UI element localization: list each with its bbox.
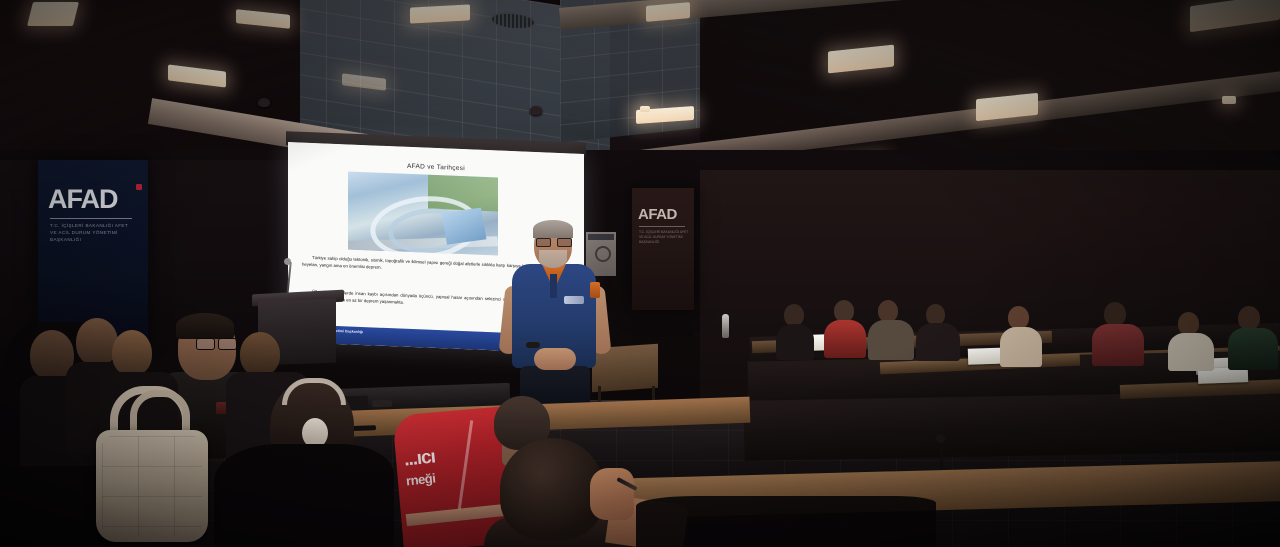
desk-microphone-stem <box>940 440 943 468</box>
foreground-hand <box>590 468 634 520</box>
banner-divider <box>50 218 132 219</box>
audience-torso <box>1228 328 1278 370</box>
audience-head <box>784 304 804 326</box>
ceiling-light-panel <box>410 4 470 23</box>
audience-head <box>926 304 945 325</box>
ceiling-light-panel <box>640 106 650 112</box>
screenshot-scene: AFAD ve Tarihçesi Türkiye sahip olduğu t… <box>0 0 1280 547</box>
presenter-beard <box>539 250 567 268</box>
banner-divider <box>639 226 685 227</box>
ceiling-speaker-icon <box>530 106 542 115</box>
slide-photo-afad-building <box>348 171 498 255</box>
presenter-hair <box>533 220 573 238</box>
audience-head <box>834 300 854 322</box>
vest-text-line-1: ...ıcı <box>403 446 436 471</box>
audience-torso <box>776 324 814 360</box>
audience-torso <box>1168 333 1214 371</box>
audience-head <box>112 330 152 376</box>
ceiling-light-panel <box>27 2 79 26</box>
vest-text-line-2: rneği <box>405 471 436 489</box>
audience-torso-red-vest <box>824 320 866 358</box>
foreground-shadow <box>636 496 936 547</box>
audience-head <box>1104 302 1126 326</box>
presenter <box>498 222 618 402</box>
foreground-silhouette <box>214 444 394 547</box>
presenter-sleeve-trim <box>590 282 600 298</box>
audience-hair <box>176 313 234 339</box>
seating-tier-front <box>744 391 1280 461</box>
afad-logo-accent-icon <box>136 184 142 190</box>
afad-logo-text: AFAD <box>48 184 118 215</box>
presenter-shirt-logo <box>564 296 584 304</box>
audience-torso <box>1000 327 1042 367</box>
audience-head <box>1178 312 1199 335</box>
audience-head <box>1238 306 1260 330</box>
water-bottle <box>722 314 729 338</box>
afad-banner-subtitle: T.C. İÇİŞLERİ BAKANLIĞI AFET VE ACİL DUR… <box>50 222 136 243</box>
photo-glass-facade <box>442 208 487 245</box>
ceiling-dome-camera-icon <box>258 98 270 107</box>
audience-torso <box>916 323 960 361</box>
audience-head <box>240 332 280 376</box>
afad-banner-right: AFAD T.C. İÇİŞLERİ BAKANLIĞI AFET VE ACİ… <box>632 188 694 310</box>
glasses-icon <box>196 338 236 348</box>
presenter-placket <box>550 274 557 298</box>
handbag-quilting <box>102 436 202 536</box>
afad-logo-text: AFAD <box>638 206 677 223</box>
audience-torso <box>1092 324 1144 366</box>
desk-device <box>372 400 392 408</box>
audience-torso <box>868 320 914 360</box>
presenter-wristband <box>526 342 540 348</box>
audience-head <box>878 300 898 322</box>
handbag <box>96 430 208 542</box>
glasses-icon <box>536 238 570 245</box>
audience-head <box>1008 306 1029 329</box>
foreground-head <box>500 438 604 540</box>
afad-banner-left: AFAD T.C. İÇİŞLERİ BAKANLIĞI AFET VE ACİ… <box>38 160 148 340</box>
presenter-hands <box>534 348 576 370</box>
ceiling-light-panel <box>1222 96 1236 104</box>
afad-banner-subtitle: T.C. İÇİŞLERİ BAKANLIĞI AFET VE ACİL DUR… <box>639 230 689 245</box>
desk-microphone-head-icon <box>936 434 945 443</box>
